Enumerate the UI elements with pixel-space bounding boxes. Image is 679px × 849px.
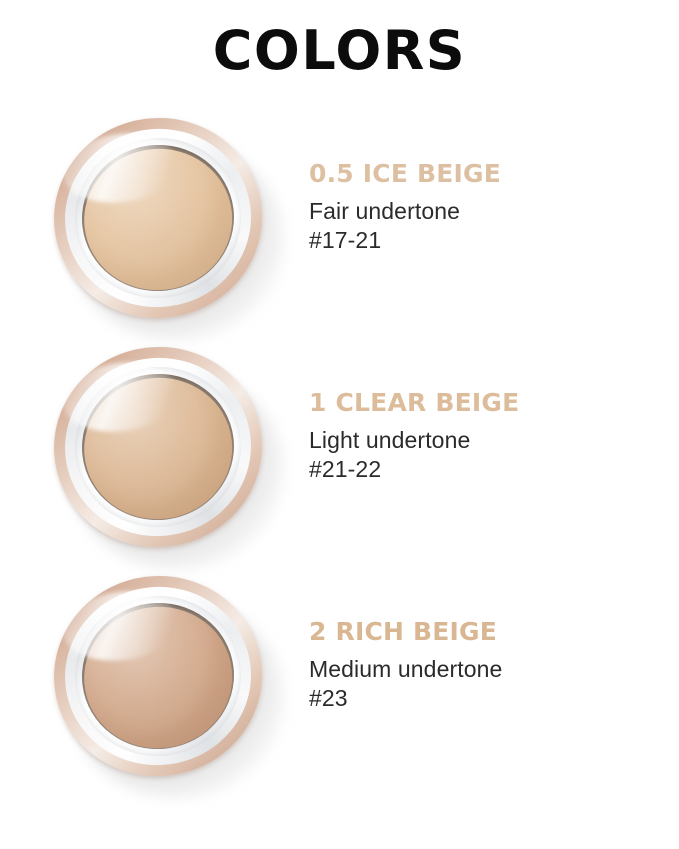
shade-code: #23 [309, 684, 659, 714]
product-jar-1 [38, 339, 288, 564]
shade-name: 1 CLEAR BEIGE [309, 389, 659, 417]
shade-name: 2 RICH BEIGE [309, 618, 659, 646]
shade-undertone: Medium undertone [309, 655, 659, 685]
shade-name: 0.5 ICE BEIGE [309, 160, 659, 188]
shade-info: 1 CLEAR BEIGE Light undertone #21-22 [309, 389, 659, 485]
shade-info: 0.5 ICE BEIGE Fair undertone #17-21 [309, 160, 659, 256]
product-jar-0 [38, 110, 288, 335]
shade-undertone: Fair undertone [309, 197, 659, 227]
product-jar-2 [38, 568, 288, 793]
shade-row: 2 RICH BEIGE Medium undertone #23 [0, 566, 679, 796]
shade-code: #17-21 [309, 226, 659, 256]
jar-body [43, 106, 274, 330]
jar-body [43, 564, 274, 788]
shade-info: 2 RICH BEIGE Medium undertone #23 [309, 618, 659, 714]
shade-code: #21-22 [309, 455, 659, 485]
page-title: COLORS [0, 24, 679, 78]
shade-undertone: Light undertone [309, 426, 659, 456]
shade-row: 1 CLEAR BEIGE Light undertone #21-22 [0, 337, 679, 567]
jar-body [43, 335, 274, 559]
shade-row: 0.5 ICE BEIGE Fair undertone #17-21 [0, 108, 679, 338]
